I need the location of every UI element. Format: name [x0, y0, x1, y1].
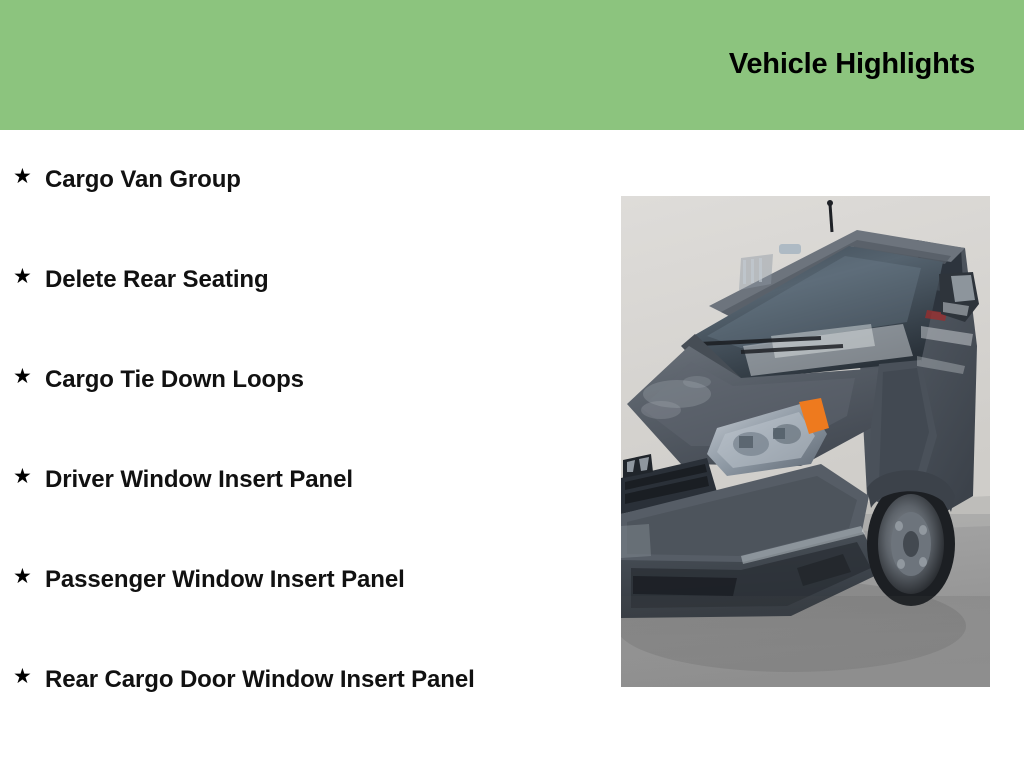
list-item: ★ Rear Cargo Door Window Insert Panel — [0, 630, 560, 730]
star-bullet-icon: ★ — [13, 266, 32, 287]
vehicle-photo — [621, 196, 990, 687]
vehicle-highlights-list: ★ Cargo Van Group ★ Delete Rear Seating … — [0, 130, 560, 730]
star-bullet-icon: ★ — [13, 466, 32, 487]
highlight-label: Delete Rear Seating — [45, 230, 505, 297]
header-band: Vehicle Highlights — [0, 0, 1024, 130]
page-title: Vehicle Highlights — [729, 48, 975, 81]
star-bullet-icon: ★ — [13, 666, 32, 687]
star-bullet-icon: ★ — [13, 166, 32, 187]
highlight-label: Driver Window Insert Panel — [45, 430, 505, 497]
list-item: ★ Cargo Tie Down Loops — [0, 330, 560, 430]
star-bullet-icon: ★ — [13, 566, 32, 587]
vehicle-photo-illustration — [621, 196, 990, 687]
list-item: ★ Passenger Window Insert Panel — [0, 530, 560, 630]
list-item: ★ Cargo Van Group — [0, 130, 560, 230]
list-item: ★ Delete Rear Seating — [0, 230, 560, 330]
highlight-label: Cargo Tie Down Loops — [45, 330, 505, 397]
highlight-label: Rear Cargo Door Window Insert Panel — [45, 630, 505, 697]
wheel — [867, 482, 955, 606]
highlight-label: Passenger Window Insert Panel — [45, 530, 505, 597]
list-item: ★ Driver Window Insert Panel — [0, 430, 560, 530]
highlight-label: Cargo Van Group — [45, 130, 505, 197]
star-bullet-icon: ★ — [13, 366, 32, 387]
